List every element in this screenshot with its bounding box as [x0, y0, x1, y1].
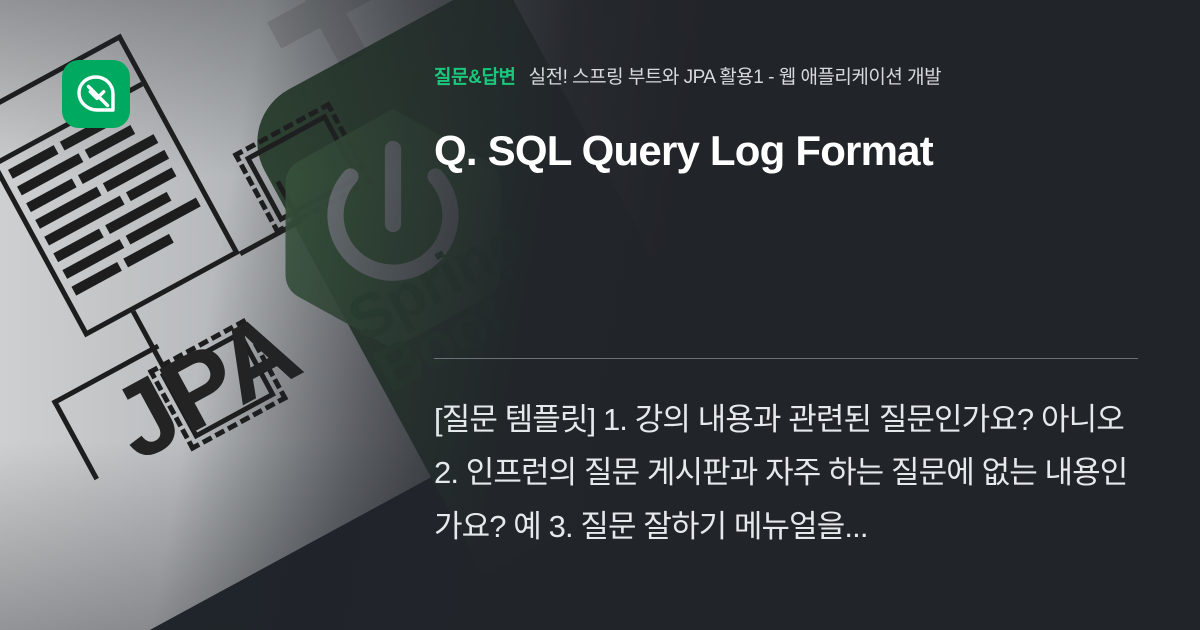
category-tag[interactable]: 질문&답변: [434, 62, 516, 89]
breadcrumb: 질문&답변 실전! 스프링 부트와 JPA 활용1 - 웹 애플리케이션 개발: [434, 62, 941, 89]
divider: [434, 358, 1138, 359]
course-title[interactable]: 실전! 스프링 부트와 JPA 활용1 - 웹 애플리케이션 개발: [529, 62, 941, 89]
og-card: 1: [0, 0, 1200, 630]
inflearn-logo[interactable]: [62, 60, 130, 128]
inflearn-leaf-arrow-icon: [76, 74, 116, 114]
question-body-text: [질문 템플릿] 1. 강의 내용과 관련된 질문인가요? 아니오 2. 인프런…: [434, 393, 1140, 553]
page-title: Q. SQL Query Log Format: [434, 125, 1140, 178]
content-column: 질문&답변 실전! 스프링 부트와 JPA 활용1 - 웹 애플리케이션 개발 …: [434, 0, 1140, 630]
